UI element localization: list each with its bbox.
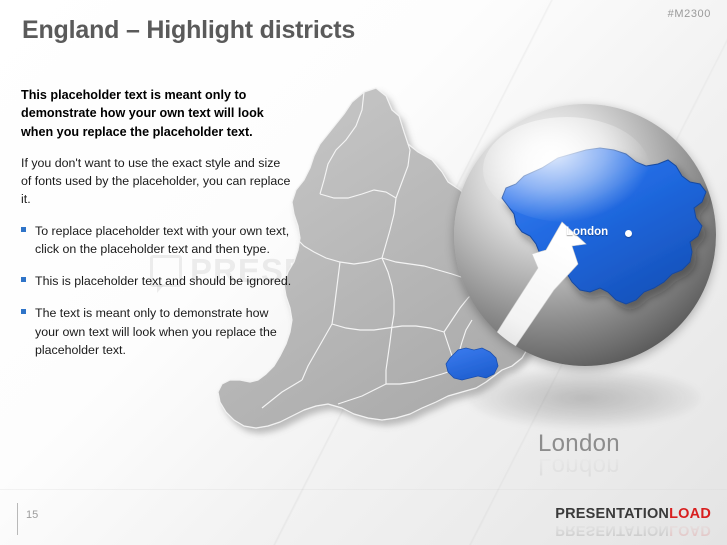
magnifier-london-label: London — [566, 226, 608, 238]
list-item-text: This is placeholder text and should be i… — [35, 274, 291, 288]
template-code: #M2300 — [668, 8, 711, 20]
list-item: To replace placeholder text with your ow… — [21, 222, 293, 258]
list-item-text: To replace placeholder text with your ow… — [35, 224, 289, 256]
text-column: This placeholder text is meant only to d… — [21, 86, 293, 373]
pointer-arrow — [476, 222, 586, 366]
footer-divider — [0, 489, 727, 490]
page-number-bar — [17, 503, 18, 535]
presentationload-logo-reflection: PRESENTATIONLOAD — [555, 522, 711, 538]
slide-canvas: England – Highlight districts #M2300 PRE… — [0, 0, 727, 545]
sphere-shadow — [468, 368, 700, 428]
bullet-list: To replace placeholder text with your ow… — [21, 222, 293, 359]
logo-primary-text-reflection: PRESENTATION — [555, 522, 669, 538]
lead-paragraph: This placeholder text is meant only to d… — [21, 86, 293, 141]
page-title: England – Highlight districts — [22, 16, 355, 45]
bullet-square-icon — [21, 277, 26, 282]
list-item: This is placeholder text and should be i… — [21, 272, 293, 290]
logo-accent-text: LOAD — [669, 506, 711, 522]
logo-primary-text: PRESENTATION — [555, 506, 669, 522]
page-number: 15 — [26, 509, 38, 521]
logo-accent-text-reflection: LOAD — [669, 522, 711, 538]
map-caption-reflection: London — [538, 452, 620, 480]
presentationload-logo: PRESENTATIONLOAD — [555, 506, 711, 522]
bullet-square-icon — [21, 227, 26, 232]
london-dot-icon — [625, 230, 632, 237]
second-paragraph: If you don't want to use the exact style… — [21, 154, 293, 208]
list-item-text: The text is meant only to demonstrate ho… — [35, 306, 277, 356]
bullet-square-icon — [21, 309, 26, 314]
list-item: The text is meant only to demonstrate ho… — [21, 304, 293, 358]
